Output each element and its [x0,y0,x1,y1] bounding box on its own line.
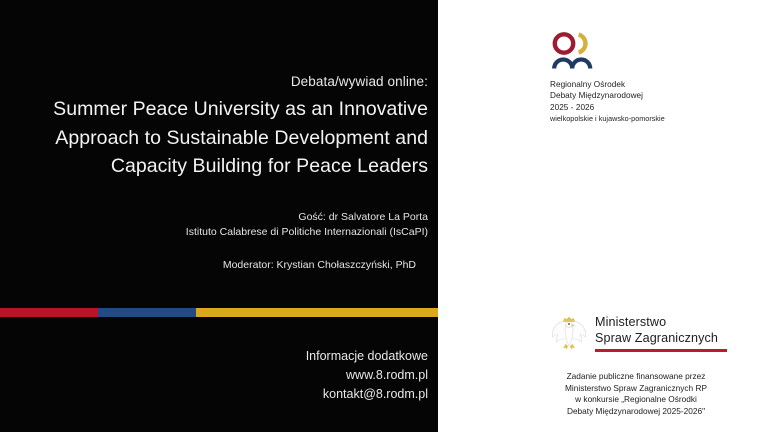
rodm-line-2: Debaty Międzynarodowej [550,90,730,101]
rodm-line-1: Regionalny Ośrodek [550,79,730,90]
funding-line-2: Ministerstwo Spraw Zagranicznych RP [536,383,736,395]
right-logo-panel: Regionalny Ośrodek Debaty Międzynarodowe… [438,0,768,432]
contact-heading: Informacje dodatkowe [0,347,428,366]
tricolour-stripe-bar [0,308,438,317]
msz-red-rule [595,349,727,352]
contact-email[interactable]: kontakt@8.rodm.pl [0,385,428,404]
stripe-segment-red [0,308,98,317]
event-kicker: Debata/wywiad online: [0,72,428,92]
stripe-segment-gold [196,308,438,317]
rodm-wordmark: Regionalny Ośrodek Debaty Międzynarodowe… [550,79,730,124]
rodm-logo: Regionalny Ośrodek Debaty Międzynarodowe… [550,30,730,124]
polish-eagle-icon [550,313,588,353]
page-title: Summer Peace University as an Innovative… [0,95,428,181]
funding-note: Zadanie publiczne finansowane przez Mini… [536,371,736,417]
funding-line-3: w konkursie „Regionalne Ośrodki [536,394,736,406]
title-block: Debata/wywiad online: Summer Peace Unive… [0,72,428,181]
guest-name: Gość: dr Salvatore La Porta [0,210,428,225]
moderator-name: Moderator: Krystian Chołaszczyński, PhD [0,258,416,273]
contact-block: Informacje dodatkowe www.8.rodm.pl konta… [0,347,428,404]
guest-affiliation: Istituto Calabrese di Politiche Internaz… [0,225,428,240]
msz-line-2: Spraw Zagranicznych [595,331,727,347]
msz-logo: Ministerstwo Spraw Zagranicznych [550,313,750,353]
speaker-block: Gość: dr Salvatore La Porta Istituto Cal… [0,210,428,240]
rodm-edition-years: 2025 - 2026 [550,102,730,113]
contact-website[interactable]: www.8.rodm.pl [0,366,428,385]
rodm-region: wielkopolskie i kujawsko-pomorskie [550,113,730,124]
msz-wordmark: Ministerstwo Spraw Zagranicznych [595,313,727,352]
stripe-segment-blue [98,308,196,317]
funding-line-1: Zadanie publiczne finansowane przez [536,371,736,383]
funding-line-4: Debaty Międzynarodowej 2025-2026" [536,406,736,418]
presentation-slide: Debata/wywiad online: Summer Peace Unive… [0,0,768,432]
rodm-emblem-icon [551,30,597,74]
msz-line-1: Ministerstwo [595,315,727,331]
left-content-panel: Debata/wywiad online: Summer Peace Unive… [0,0,438,432]
